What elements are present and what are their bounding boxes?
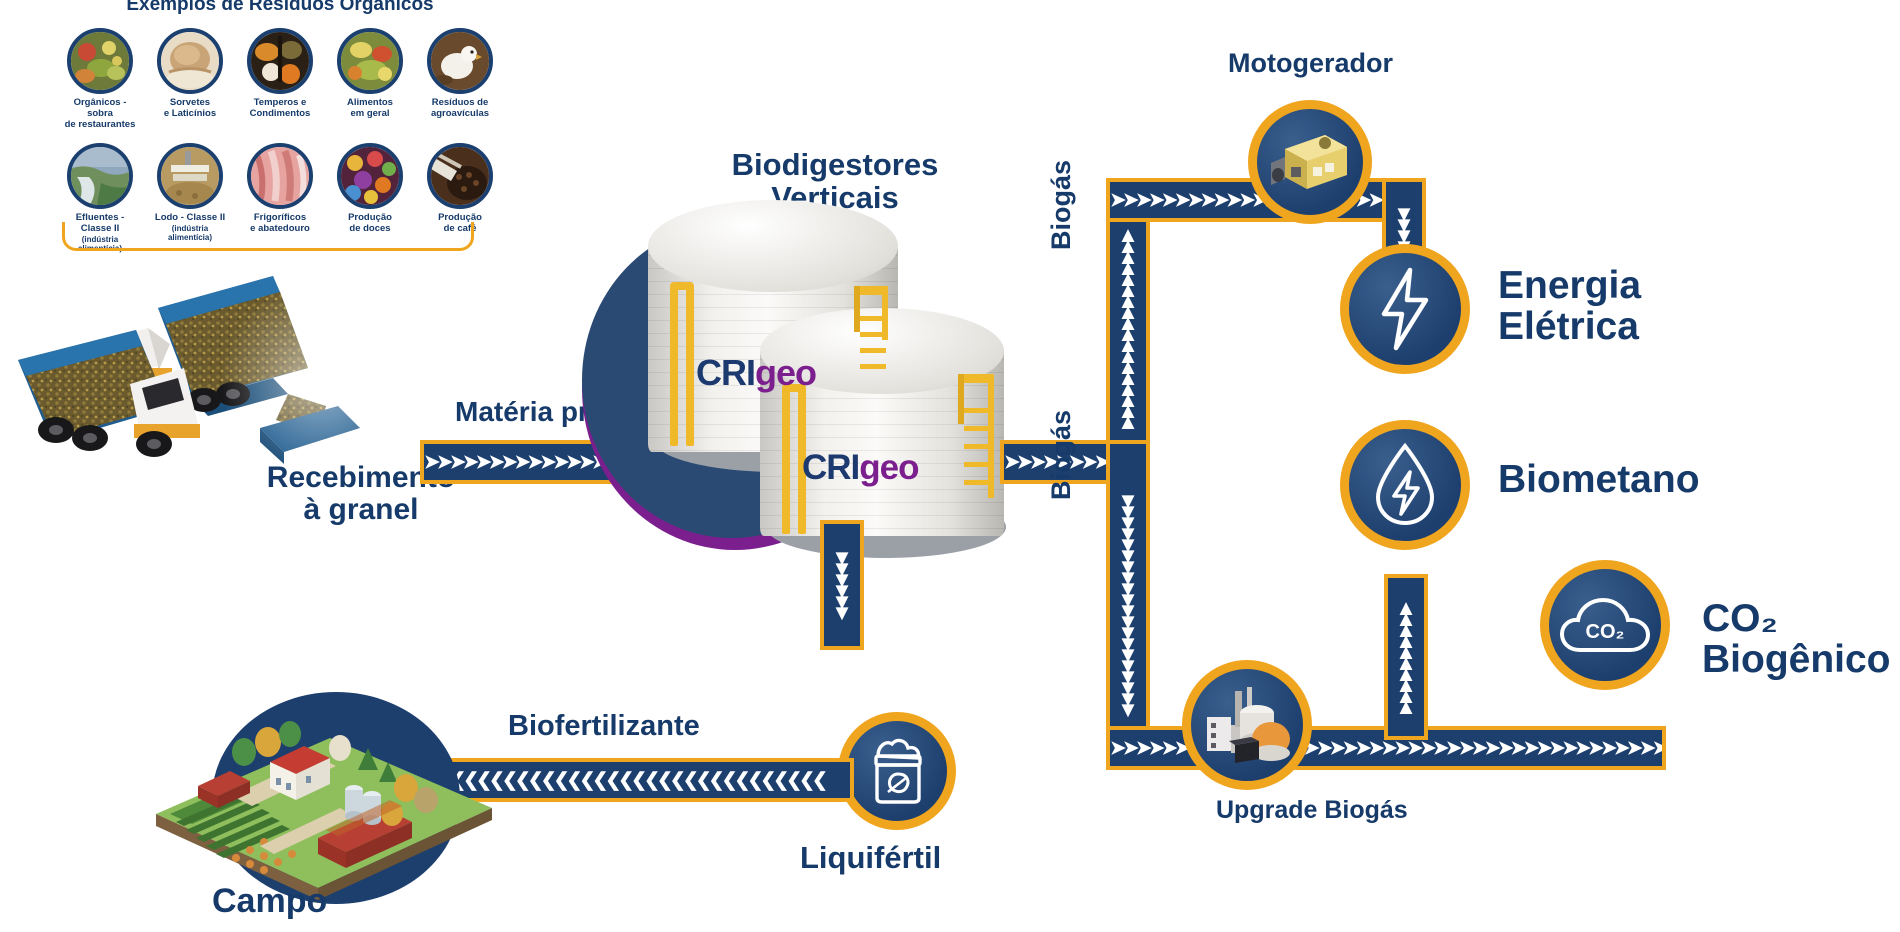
waste-example-label: Sorvetese Laticínios (150, 98, 230, 120)
tank-logo-rear: CRIgeo (696, 352, 816, 394)
biogas-lower-label: Biogás (1046, 410, 1077, 500)
biogenic-co2-node[interactable]: CO₂ (1540, 560, 1670, 690)
waste-example-label: Resíduos deagroavículas (420, 98, 500, 120)
waste-example-item: Resíduos deagroavículas (420, 28, 500, 131)
waste-example-label: Orgânicos - sobrade restaurantes (60, 98, 140, 131)
svg-text:CO₂: CO₂ (1586, 621, 1625, 643)
motogenerator-node[interactable] (1248, 100, 1372, 224)
flow-arrows: ▲▲▲▲ ▲▲▲▲ ▲▲▲▲ ▲▲▲▲ ▲▲ (1110, 182, 1146, 474)
biogas-process-diagram: Exemplos de Resíduos Orgânicos Orgânicos… (0, 0, 1900, 932)
waste-example-item: Alimentosem geral (330, 28, 410, 131)
poultry-icon (427, 28, 493, 94)
farm-illustration (140, 690, 520, 910)
tank-logo-front: CRIgeo (802, 448, 919, 488)
waste-example-item: Temperos eCondimentos (240, 28, 320, 131)
upgrade-biogas-label: Upgrade Biogás (1216, 796, 1408, 825)
biomethane-label: Biometano (1498, 458, 1700, 502)
examples-bracket (62, 222, 474, 251)
candy-icon (337, 143, 403, 209)
general-food-icon (337, 28, 403, 94)
upgrade-to-biomethane-pipe: ▲▲▲▲ ▲▲▲▲ ▲▲ (1384, 574, 1428, 740)
waste-examples-panel: Exemplos de Resíduos Orgânicos Orgânicos… (60, 0, 500, 253)
biofertilizer-label: Biofertilizante (508, 710, 700, 743)
biogas-lower-downcomer: ▼▼▼▼ ▼▼▼▼ ▼▼▼▼ ▼▼▼▼ ▼▼▼▼ (1106, 440, 1150, 770)
electric-energy-label: EnergiaElétrica (1498, 265, 1641, 348)
liquifertil-label: Liquifértil (800, 840, 941, 876)
waste-example-item: Orgânicos - sobrade restaurantes (60, 28, 140, 131)
biogas-upgrade-plant-icon (1201, 683, 1293, 767)
ice-cream-icon (157, 28, 223, 94)
waste-examples-title: Exemplos de Resíduos Orgânicos (60, 0, 500, 16)
waste-examples-row-1: Orgânicos - sobrade restaurantes Sorvete… (60, 28, 500, 131)
fertilizer-bag-icon (864, 734, 930, 808)
lightning-bolt-icon (1376, 266, 1434, 352)
digestate-downpipe: ▼▼▼ ▼▼▼ (820, 520, 864, 650)
droplet-bolt-icon (1370, 442, 1440, 528)
biogas-upper-label: Biogás (1046, 160, 1077, 250)
food-scraps-icon (67, 28, 133, 94)
coffee-icon (427, 143, 493, 209)
meat-icon (247, 143, 313, 209)
upgrade-biogas-node[interactable] (1182, 660, 1312, 790)
spices-icon (247, 28, 313, 94)
biogas-upper-riser: ▲▲▲▲ ▲▲▲▲ ▲▲▲▲ ▲▲▲▲ ▲▲ (1106, 178, 1150, 478)
field-label: Campo (212, 882, 327, 921)
co2-cloud-icon: CO₂ (1558, 592, 1652, 658)
dump-trucks-illustration (8, 248, 428, 468)
liquifertil-node[interactable] (838, 712, 956, 830)
sludge-icon (157, 143, 223, 209)
generator-icon (1267, 123, 1353, 201)
electric-energy-node[interactable] (1340, 244, 1470, 374)
waste-example-label: Temperos eCondimentos (240, 98, 320, 120)
biogenic-co2-label: CO₂Biogênico (1702, 598, 1891, 681)
waste-example-label: Alimentosem geral (330, 98, 410, 120)
motogenerator-label: Motogerador (1228, 48, 1393, 79)
waste-example-item: Sorvetese Laticínios (150, 28, 230, 131)
biomethane-node[interactable] (1340, 420, 1470, 550)
effluent-icon (67, 143, 133, 209)
